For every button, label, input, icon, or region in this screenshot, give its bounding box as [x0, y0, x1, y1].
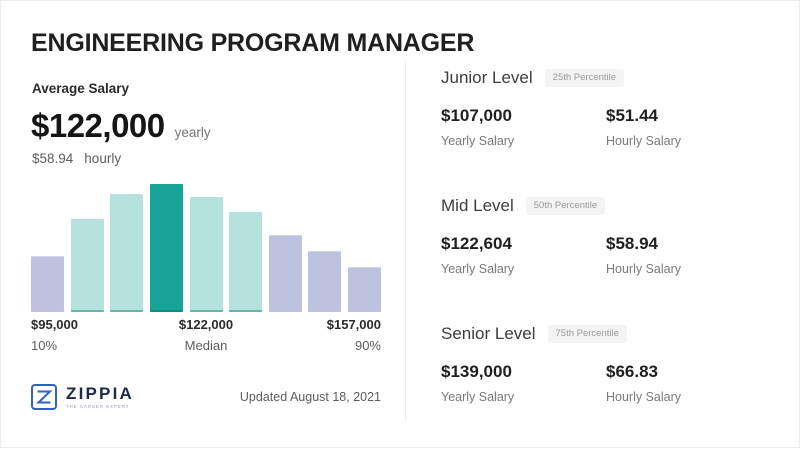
yearly-stat: $139,000 Yearly Salary: [441, 362, 606, 404]
zippia-logo[interactable]: ZIPPIA THE CAREER EXPERT: [31, 384, 134, 410]
hourly-stat: $51.44 Hourly Salary: [606, 106, 771, 148]
percentile-badge: 50th Percentile: [526, 197, 605, 215]
hourly-salary-label: Hourly Salary: [606, 134, 771, 148]
chart-bar: [31, 256, 64, 312]
level-name: Junior Level: [441, 68, 533, 88]
level-section-junior: Junior Level 25th Percentile $107,000 Ye…: [441, 67, 771, 148]
average-salary-amount: $122,000: [31, 107, 165, 145]
average-salary-amount-row: $122,000 yearly: [31, 107, 211, 145]
updated-date: Updated August 18, 2021: [240, 390, 381, 404]
axis-median-sub: Median: [179, 338, 233, 353]
chart-bar: [150, 184, 183, 312]
zippia-tagline: THE CAREER EXPERT: [66, 405, 134, 409]
salary-distribution-chart: [31, 186, 381, 312]
levels-panel: Junior Level 25th Percentile $107,000 Ye…: [405, 1, 800, 449]
level-stats: $107,000 Yearly Salary $51.44 Hourly Sal…: [441, 106, 771, 148]
chart-bar: [110, 194, 143, 312]
hourly-stat: $58.94 Hourly Salary: [606, 234, 771, 276]
axis-label-low: $95,000 10%: [31, 317, 78, 353]
chart-axis-labels: $95,000 10% $122,000 Median $157,000 90%: [31, 317, 381, 359]
yearly-salary-value: $139,000: [441, 362, 606, 382]
level-stats: $122,604 Yearly Salary $58.94 Hourly Sal…: [441, 234, 771, 276]
card-footer: ZIPPIA THE CAREER EXPERT Updated August …: [31, 384, 381, 418]
yearly-stat: $122,604 Yearly Salary: [441, 234, 606, 276]
chart-bar: [269, 235, 302, 312]
axis-label-median: $122,000 Median: [179, 317, 233, 353]
axis-low-value: $95,000: [31, 317, 78, 332]
axis-median-value: $122,000: [179, 317, 233, 332]
average-hourly-amount: $58.94: [32, 151, 73, 166]
hourly-stat: $66.83 Hourly Salary: [606, 362, 771, 404]
axis-high-sub: 90%: [327, 338, 381, 353]
level-section-mid: Mid Level 50th Percentile $122,604 Yearl…: [441, 195, 771, 276]
yearly-salary-label: Yearly Salary: [441, 262, 606, 276]
zippia-logo-icon: [31, 384, 57, 410]
chart-bar: [348, 267, 381, 312]
average-salary-panel: Average Salary $122,000 yearly $58.94 ho…: [1, 1, 405, 449]
average-hourly-row: $58.94 hourly: [32, 151, 121, 166]
level-section-senior: Senior Level 75th Percentile $139,000 Ye…: [441, 323, 771, 404]
hourly-salary-value: $51.44: [606, 106, 771, 126]
average-salary-label: Average Salary: [32, 81, 129, 96]
average-salary-unit: yearly: [175, 125, 211, 140]
level-header: Junior Level 25th Percentile: [441, 67, 771, 89]
chart-bar: [190, 197, 223, 312]
average-hourly-unit: hourly: [84, 151, 121, 166]
zippia-logo-text: ZIPPIA THE CAREER EXPERT: [66, 385, 134, 409]
chart-bar: [308, 251, 341, 312]
axis-high-value: $157,000: [327, 317, 381, 332]
hourly-salary-value: $58.94: [606, 234, 771, 254]
yearly-salary-label: Yearly Salary: [441, 134, 606, 148]
yearly-salary-value: $122,604: [441, 234, 606, 254]
yearly-salary-label: Yearly Salary: [441, 390, 606, 404]
level-header: Senior Level 75th Percentile: [441, 323, 771, 345]
level-stats: $139,000 Yearly Salary $66.83 Hourly Sal…: [441, 362, 771, 404]
hourly-salary-label: Hourly Salary: [606, 262, 771, 276]
chart-bar: [229, 212, 262, 312]
chart-bar: [71, 219, 104, 312]
hourly-salary-label: Hourly Salary: [606, 390, 771, 404]
level-name: Mid Level: [441, 196, 514, 216]
zippia-wordmark: ZIPPIA: [66, 385, 134, 402]
percentile-badge: 25th Percentile: [545, 69, 624, 87]
axis-label-high: $157,000 90%: [327, 317, 381, 353]
salary-card: ENGINEERING PROGRAM MANAGER Average Sala…: [0, 0, 800, 448]
yearly-salary-value: $107,000: [441, 106, 606, 126]
level-name: Senior Level: [441, 324, 536, 344]
hourly-salary-value: $66.83: [606, 362, 771, 382]
yearly-stat: $107,000 Yearly Salary: [441, 106, 606, 148]
level-header: Mid Level 50th Percentile: [441, 195, 771, 217]
axis-low-sub: 10%: [31, 338, 78, 353]
percentile-badge: 75th Percentile: [548, 325, 627, 343]
chart-bars: [31, 186, 381, 312]
